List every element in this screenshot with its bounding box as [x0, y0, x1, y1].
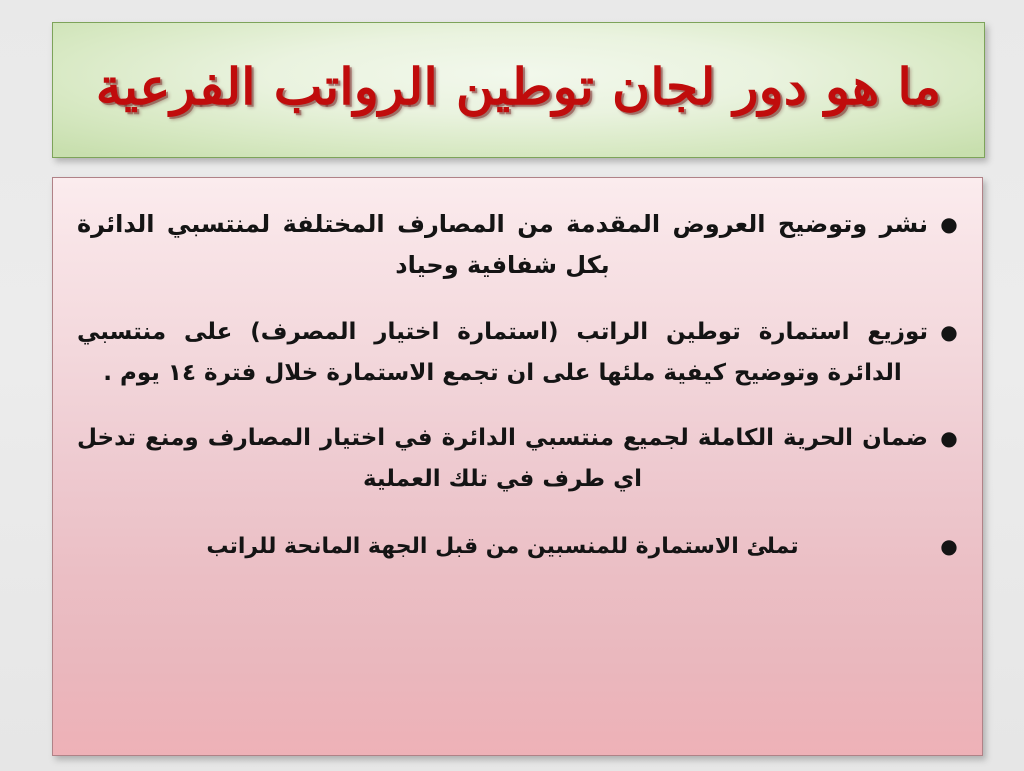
list-item: ● تملئ الاستمارة للمنسبين من قبل الجهة ا…	[71, 526, 964, 567]
slide-title-band: ما هو دور لجان توطين الرواتب الفرعية	[52, 22, 985, 158]
slide-canvas: ما هو دور لجان توطين الرواتب الفرعية ● ن…	[0, 0, 1024, 771]
list-item: ● نشر وتوضيح العروض المقدمة من المصارف ا…	[71, 204, 964, 286]
bullet-text: تملئ الاستمارة للمنسبين من قبل الجهة الم…	[71, 526, 934, 567]
list-item: ● ضمان الحرية الكاملة لجميع منتسبي الدائ…	[71, 418, 964, 500]
bullet-dot-icon: ●	[934, 418, 964, 458]
page-title: ما هو دور لجان توطين الرواتب الفرعية	[96, 61, 941, 120]
slide-body-panel: ● نشر وتوضيح العروض المقدمة من المصارف ا…	[52, 177, 983, 756]
bullet-text: ضمان الحرية الكاملة لجميع منتسبي الدائرة…	[71, 418, 934, 500]
bullet-text: نشر وتوضيح العروض المقدمة من المصارف الم…	[71, 204, 934, 286]
list-item: ● توزيع استمارة توطين الراتب (استمارة اخ…	[71, 312, 964, 394]
bullet-dot-icon: ●	[934, 312, 964, 352]
bullet-dot-icon: ●	[934, 526, 964, 566]
bullet-list: ● نشر وتوضيح العروض المقدمة من المصارف ا…	[71, 204, 964, 567]
bullet-text: توزيع استمارة توطين الراتب (استمارة اختي…	[71, 312, 934, 394]
bullet-dot-icon: ●	[934, 204, 964, 244]
